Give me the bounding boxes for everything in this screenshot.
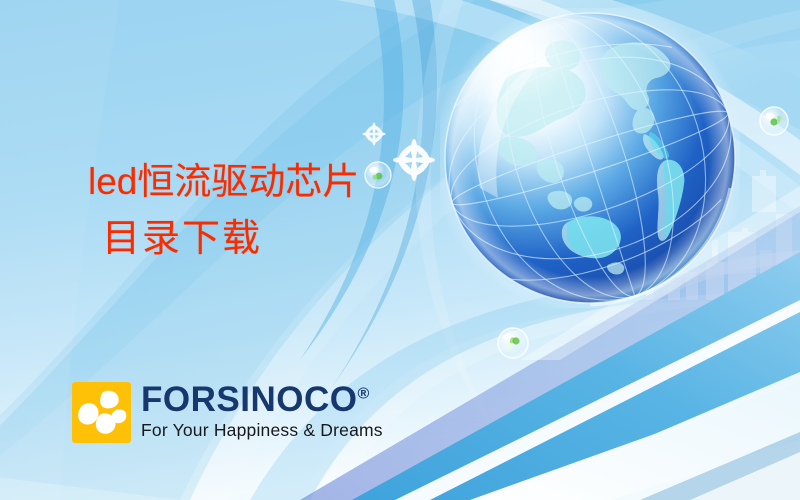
company-logo: FORSINOCO® For Your Happiness & Dreams [72, 382, 383, 443]
headline-line-2: 目录下载 [102, 219, 359, 258]
flower-icon [362, 122, 385, 145]
headline-line-1: led恒流驱动芯片 [88, 163, 359, 201]
flower-icon [393, 139, 435, 181]
registered-trademark-icon: ® [357, 385, 369, 402]
headline: led恒流驱动芯片 目录下载 [88, 163, 359, 257]
logo-name-text: FORSINOCO [141, 380, 357, 419]
bubble-icon [760, 107, 788, 135]
four-petal-pinwheel-icon [72, 382, 131, 443]
globe-icon [440, 8, 740, 308]
bubble-icon [498, 328, 528, 358]
logo-tagline: For Your Happiness & Dreams [141, 420, 383, 441]
logo-wordmark: FORSINOCO® [141, 382, 383, 417]
bubble-icon [365, 162, 391, 188]
poster-canvas: led恒流驱动芯片 目录下载 FORSINOCO® For Your Happi… [0, 0, 800, 500]
